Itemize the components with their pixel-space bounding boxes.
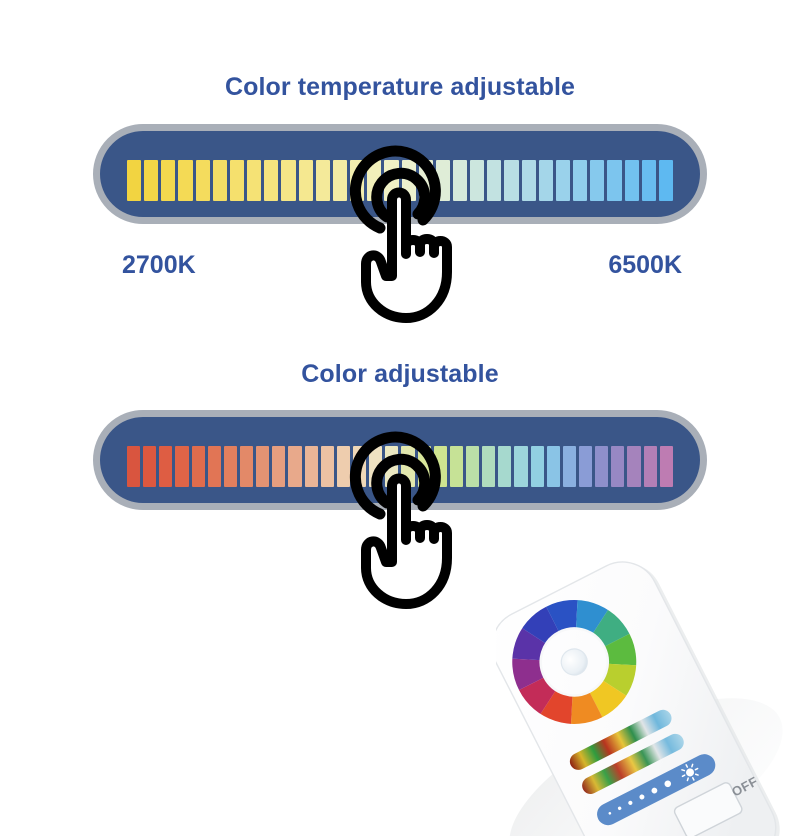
color-temperature-segment[interactable] bbox=[436, 160, 450, 201]
color-temperature-segment[interactable] bbox=[264, 160, 278, 201]
color-segment[interactable] bbox=[498, 446, 511, 487]
color-temperature-segment[interactable] bbox=[299, 160, 313, 201]
color-segments[interactable] bbox=[127, 446, 673, 487]
color-temperature-segment[interactable] bbox=[196, 160, 210, 201]
color-temperature-segment[interactable] bbox=[161, 160, 175, 201]
color-wheel-dial[interactable] bbox=[496, 576, 660, 748]
color-segment[interactable] bbox=[369, 446, 382, 487]
color-segment[interactable] bbox=[337, 446, 350, 487]
color-temperature-segment[interactable] bbox=[247, 160, 261, 201]
color-temperature-segment[interactable] bbox=[367, 160, 381, 201]
color-segment[interactable] bbox=[143, 446, 156, 487]
color-temperature-segment[interactable] bbox=[281, 160, 295, 201]
color-temperature-segment[interactable] bbox=[230, 160, 244, 201]
color-segment[interactable] bbox=[627, 446, 640, 487]
color-temperature-segment[interactable] bbox=[642, 160, 656, 201]
color-segment[interactable] bbox=[434, 446, 447, 487]
color-segment[interactable] bbox=[482, 446, 495, 487]
color-segment[interactable] bbox=[514, 446, 527, 487]
color-segment[interactable] bbox=[660, 446, 673, 487]
color-temperature-segment[interactable] bbox=[470, 160, 484, 201]
color-segment[interactable] bbox=[272, 446, 285, 487]
color-segment[interactable] bbox=[321, 446, 334, 487]
color-segment[interactable] bbox=[547, 446, 560, 487]
color-temperature-segment[interactable] bbox=[453, 160, 467, 201]
color-segment[interactable] bbox=[644, 446, 657, 487]
color-temperature-segment[interactable] bbox=[384, 160, 398, 201]
led-remote-control[interactable] bbox=[496, 536, 800, 836]
color-segment[interactable] bbox=[192, 446, 205, 487]
color-segment[interactable] bbox=[595, 446, 608, 487]
color-segment[interactable] bbox=[563, 446, 576, 487]
color-temperature-segment[interactable] bbox=[659, 160, 673, 201]
rainbow-touch-strip[interactable] bbox=[567, 707, 675, 773]
color-temperature-segment[interactable] bbox=[127, 160, 141, 201]
page-title-color: Color adjustable bbox=[0, 360, 800, 389]
color-segment[interactable] bbox=[240, 446, 253, 487]
page-title-color-temperature: Color temperature adjustable bbox=[0, 73, 800, 102]
color-segment[interactable] bbox=[385, 446, 398, 487]
color-temperature-segment[interactable] bbox=[539, 160, 553, 201]
color-temperature-segment[interactable] bbox=[333, 160, 347, 201]
color-segment[interactable] bbox=[353, 446, 366, 487]
color-temperature-segment[interactable] bbox=[316, 160, 330, 201]
color-segment[interactable] bbox=[450, 446, 463, 487]
color-wheel-inner-edge bbox=[529, 617, 619, 707]
color-temperature-segment[interactable] bbox=[625, 160, 639, 201]
color-segment[interactable] bbox=[256, 446, 269, 487]
color-temperature-segment[interactable] bbox=[522, 160, 536, 201]
sun-brightness-icon bbox=[679, 761, 702, 784]
color-segment[interactable] bbox=[208, 446, 221, 487]
off-button-label: OFF bbox=[729, 773, 760, 799]
color-temperature-segment[interactable] bbox=[487, 160, 501, 201]
color-segment[interactable] bbox=[175, 446, 188, 487]
color-temperature-segment[interactable] bbox=[402, 160, 416, 201]
color-temperature-segment[interactable] bbox=[607, 160, 621, 201]
kelvin-max-label: 6500K bbox=[608, 251, 682, 280]
color-temperature-segment[interactable] bbox=[573, 160, 587, 201]
color-segment[interactable] bbox=[611, 446, 624, 487]
color-temperature-segment[interactable] bbox=[556, 160, 570, 201]
color-temperature-segment[interactable] bbox=[213, 160, 227, 201]
color-temperature-segments[interactable] bbox=[127, 160, 673, 201]
color-segment[interactable] bbox=[401, 446, 414, 487]
color-temperature-segment[interactable] bbox=[590, 160, 604, 201]
color-segment[interactable] bbox=[418, 446, 431, 487]
color-temperature-segment[interactable] bbox=[504, 160, 518, 201]
color-temperature-segment[interactable] bbox=[350, 160, 364, 201]
brightness-touch-strip[interactable] bbox=[593, 750, 719, 829]
remote-shadow bbox=[496, 663, 800, 836]
color-segment[interactable] bbox=[159, 446, 172, 487]
color-segment[interactable] bbox=[288, 446, 301, 487]
rainbow-touch-strip[interactable] bbox=[579, 731, 687, 797]
color-slider[interactable] bbox=[93, 410, 707, 510]
color-temperature-slider[interactable] bbox=[93, 124, 707, 224]
color-temperature-segment[interactable] bbox=[144, 160, 158, 201]
color-segment[interactable] bbox=[127, 446, 140, 487]
color-segment[interactable] bbox=[579, 446, 592, 487]
color-segment[interactable] bbox=[224, 446, 237, 487]
color-segment[interactable] bbox=[305, 446, 318, 487]
color-segment[interactable] bbox=[466, 446, 479, 487]
color-temperature-segment[interactable] bbox=[178, 160, 192, 201]
kelvin-min-label: 2700K bbox=[122, 251, 196, 280]
center-power-button[interactable] bbox=[557, 644, 592, 679]
color-temperature-segment[interactable] bbox=[419, 160, 433, 201]
color-segment[interactable] bbox=[531, 446, 544, 487]
